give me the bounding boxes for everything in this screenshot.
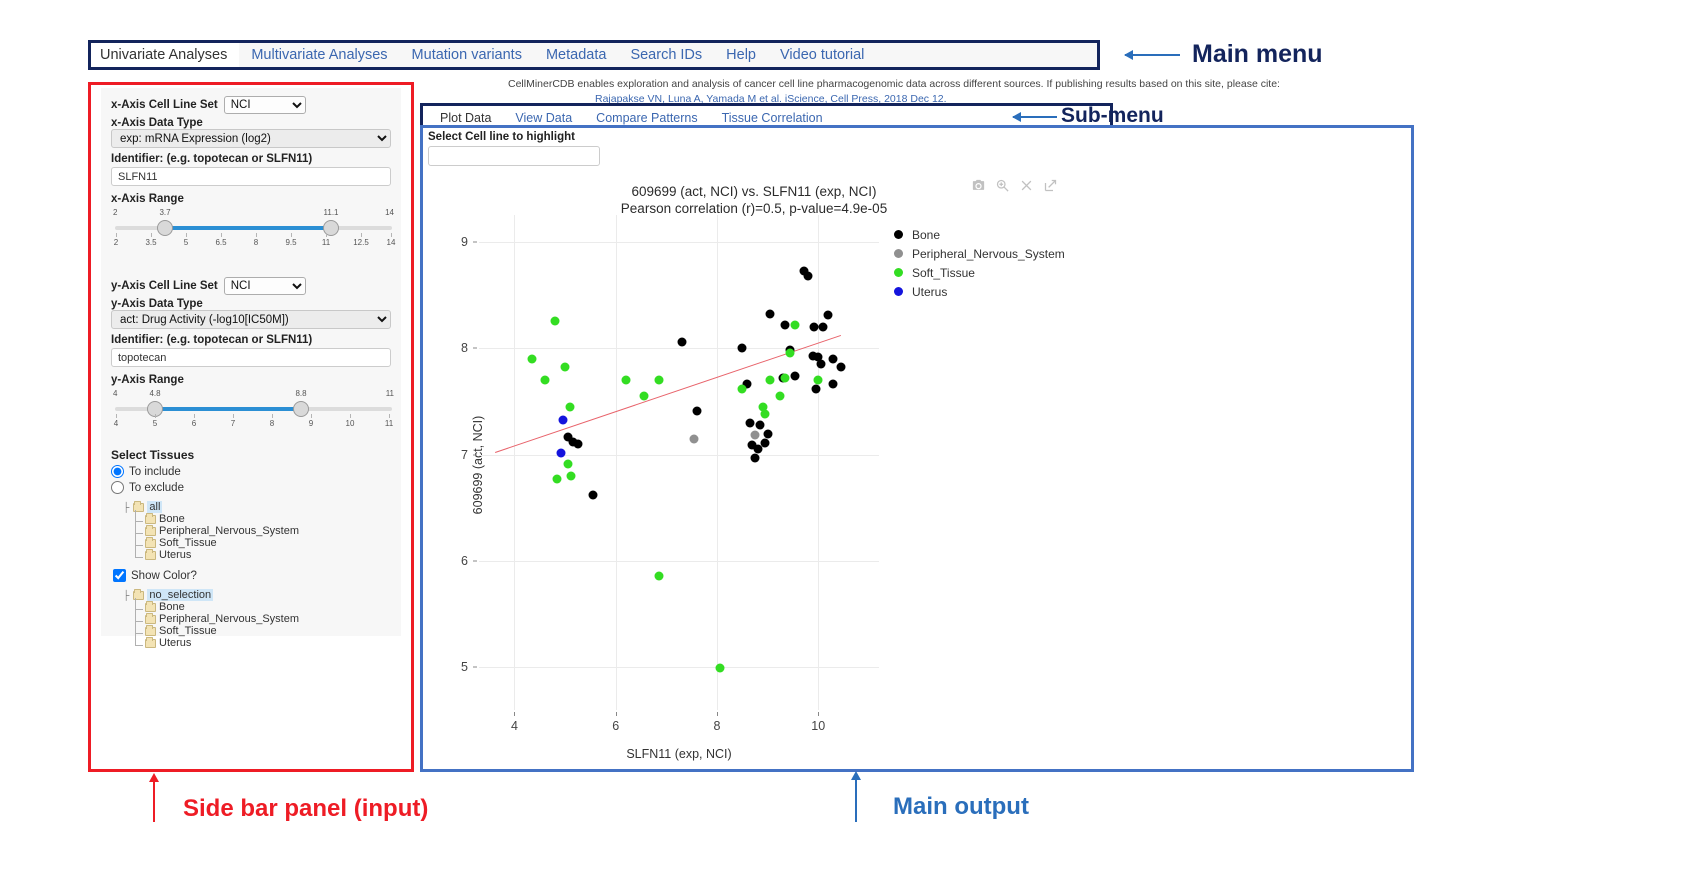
- data-point-uterus[interactable]: [557, 449, 566, 458]
- x-tick-mark: [717, 712, 718, 716]
- data-point-bone[interactable]: [766, 310, 775, 319]
- data-point-bone[interactable]: [824, 311, 833, 320]
- y-tick-mark: [473, 454, 477, 455]
- x-axis-title: SLFN11 (exp, NCI): [626, 747, 731, 761]
- data-point-bone[interactable]: [791, 371, 800, 380]
- data-point-soft_tissue[interactable]: [654, 376, 663, 385]
- data-point-soft_tissue[interactable]: [567, 471, 576, 480]
- data-point-bone[interactable]: [588, 490, 597, 499]
- data-point-soft_tissue[interactable]: [814, 376, 823, 385]
- annotation-main-menu: Main menu: [1192, 40, 1323, 69]
- legend-label: Peripheral_Nervous_System: [912, 247, 1065, 261]
- legend-item-uterus[interactable]: Uterus: [894, 282, 1065, 301]
- gridline-vertical: [616, 215, 617, 710]
- data-point-bone[interactable]: [677, 337, 686, 346]
- data-point-soft_tissue[interactable]: [566, 402, 575, 411]
- x-tick-mark: [818, 712, 819, 716]
- y-tick-mark: [473, 667, 477, 668]
- data-point-bone[interactable]: [745, 418, 754, 427]
- plot-title-line-1: 609699 (act, NCI) vs. SLFN11 (exp, NCI): [474, 183, 1034, 200]
- data-point-peripheral_nervous_system[interactable]: [690, 434, 699, 443]
- data-point-uterus[interactable]: [558, 416, 567, 425]
- gridline-horizontal: [479, 667, 879, 668]
- legend-item-bone[interactable]: Bone: [894, 225, 1065, 244]
- y-tick-label: 6: [461, 554, 468, 568]
- gridline-vertical: [514, 215, 515, 710]
- gridline-horizontal: [479, 561, 879, 562]
- annotation-sidebar: Side bar panel (input): [183, 795, 428, 823]
- data-point-bone[interactable]: [810, 322, 819, 331]
- gridline-vertical: [717, 215, 718, 710]
- y-tick-mark: [473, 241, 477, 242]
- gridline-horizontal: [479, 242, 879, 243]
- legend-item-peripheral_nervous_system[interactable]: Peripheral_Nervous_System: [894, 244, 1065, 263]
- data-point-soft_tissue[interactable]: [761, 410, 770, 419]
- y-tick-mark: [473, 560, 477, 561]
- legend-swatch: [894, 230, 903, 239]
- select-cell-line-label: Select Cell line to highlight: [428, 131, 575, 143]
- plot-legend[interactable]: BonePeripheral_Nervous_SystemSoft_Tissue…: [894, 225, 1065, 301]
- data-point-soft_tissue[interactable]: [738, 384, 747, 393]
- data-point-soft_tissue[interactable]: [781, 373, 790, 382]
- data-point-soft_tissue[interactable]: [540, 376, 549, 385]
- data-point-soft_tissue[interactable]: [561, 363, 570, 372]
- data-point-bone[interactable]: [781, 320, 790, 329]
- data-point-soft_tissue[interactable]: [621, 376, 630, 385]
- data-point-soft_tissue[interactable]: [791, 320, 800, 329]
- data-point-bone[interactable]: [573, 439, 582, 448]
- y-tick-label: 7: [461, 448, 468, 462]
- y-tick-label: 5: [461, 660, 468, 674]
- data-point-soft_tissue[interactable]: [639, 391, 648, 400]
- data-point-soft_tissue[interactable]: [715, 664, 724, 673]
- annotation-arrow-main-menu: [1125, 54, 1180, 56]
- x-tick-mark: [514, 712, 515, 716]
- data-point-bone[interactable]: [692, 406, 701, 415]
- data-point-bone[interactable]: [829, 354, 838, 363]
- x-tick-label: 6: [612, 719, 619, 733]
- legend-item-soft_tissue[interactable]: Soft_Tissue: [894, 263, 1065, 282]
- legend-swatch: [894, 249, 903, 258]
- autoscale-icon[interactable]: [1043, 178, 1058, 193]
- legend-label: Soft_Tissue: [912, 266, 975, 280]
- data-point-bone[interactable]: [837, 363, 846, 372]
- gridline-vertical: [818, 215, 819, 710]
- data-point-soft_tissue[interactable]: [766, 376, 775, 385]
- y-tick-mark: [473, 348, 477, 349]
- plot-title: 609699 (act, NCI) vs. SLFN11 (exp, NCI) …: [474, 183, 1034, 217]
- select-cell-line-input[interactable]: [428, 146, 600, 166]
- main-menu-highlight-box: [88, 40, 1100, 70]
- data-point-bone[interactable]: [803, 271, 812, 280]
- legend-label: Uterus: [912, 285, 947, 299]
- legend-swatch: [894, 268, 903, 277]
- gridline-horizontal: [479, 348, 879, 349]
- citation-line-1: CellMinerCDB enables exploration and ana…: [508, 78, 1508, 90]
- x-tick-label: 10: [811, 719, 825, 733]
- y-tick-label: 8: [461, 341, 468, 355]
- y-axis-title: 609699 (act, NCI): [471, 416, 485, 515]
- plot-area[interactable]: 609699 (act, NCI) SLFN11 (exp, NCI) 4681…: [479, 215, 879, 710]
- data-point-bone[interactable]: [811, 384, 820, 393]
- data-point-bone[interactable]: [754, 445, 763, 454]
- x-tick-mark: [616, 712, 617, 716]
- data-point-bone[interactable]: [738, 344, 747, 353]
- data-point-soft_tissue[interactable]: [553, 475, 562, 484]
- data-point-soft_tissue[interactable]: [786, 349, 795, 358]
- annotation-arrow-sub-menu: [1013, 116, 1057, 118]
- annotation-arrow-main-output: [855, 780, 857, 822]
- data-point-peripheral_nervous_system[interactable]: [750, 431, 759, 440]
- data-point-soft_tissue[interactable]: [563, 460, 572, 469]
- data-point-soft_tissue[interactable]: [776, 391, 785, 400]
- data-point-bone[interactable]: [750, 453, 759, 462]
- legend-label: Bone: [912, 228, 940, 242]
- x-tick-label: 4: [511, 719, 518, 733]
- scatter-plot[interactable]: 609699 (act, NCI) vs. SLFN11 (exp, NCI) …: [424, 170, 1410, 768]
- data-point-bone[interactable]: [816, 360, 825, 369]
- y-tick-label: 9: [461, 235, 468, 249]
- data-point-soft_tissue[interactable]: [550, 317, 559, 326]
- data-point-bone[interactable]: [819, 322, 828, 331]
- legend-swatch: [894, 287, 903, 296]
- data-point-soft_tissue[interactable]: [528, 354, 537, 363]
- data-point-bone[interactable]: [756, 420, 765, 429]
- x-tick-label: 8: [713, 719, 720, 733]
- sidebar-highlight-box: [88, 82, 414, 772]
- data-point-bone[interactable]: [829, 380, 838, 389]
- annotation-main-output: Main output: [893, 793, 1029, 821]
- gridline-horizontal: [479, 455, 879, 456]
- annotation-sub-menu: Sub-menu: [1061, 104, 1164, 128]
- data-point-soft_tissue[interactable]: [654, 571, 663, 580]
- annotation-arrow-sidebar: [153, 782, 155, 822]
